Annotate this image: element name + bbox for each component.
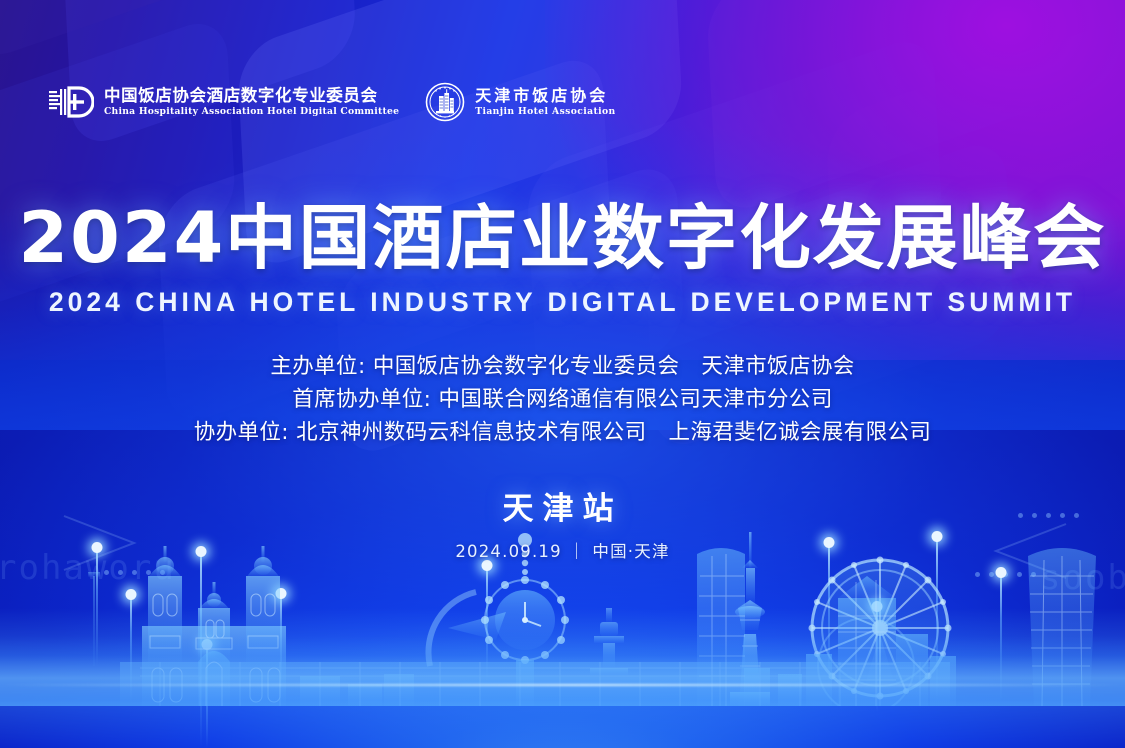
main-title-block: 2024中国酒店业数字化发展峰会 2024 CHINA HOTEL INDUST… xyxy=(0,203,1125,318)
organizers-block: 主办单位: 中国饭店协会数字化专业委员会 天津市饭店协会 首席协办单位: 中国联… xyxy=(0,350,1125,449)
horizon-line xyxy=(0,684,1125,686)
summit-title-en: 2024 CHINA HOTEL INDUSTRY DIGITAL DEVELO… xyxy=(0,287,1125,318)
station-block: 天津站 2024.09.19 ｜ 中国·天津 xyxy=(0,483,1125,562)
header-logo-bar: 中国饭店协会酒店数字化专业委员会 China Hospitality Assoc… xyxy=(48,82,616,122)
logo-tha-cn-text: 天津市饭店协会 xyxy=(475,88,615,104)
logo-china-hospitality-association[interactable]: 中国饭店协会酒店数字化专业委员会 China Hospitality Assoc… xyxy=(48,85,399,119)
station-name: 天津站 xyxy=(0,483,1125,528)
tianjin-hotel-association-seal-icon xyxy=(425,82,465,122)
logo-tianjin-hotel-association[interactable]: 天津市饭店协会 Tianjin Hotel Association xyxy=(425,82,615,122)
organizer-line-co-host: 协办单位: 北京神州数码云科信息技术有限公司 上海君斐亿诚会展有限公司 xyxy=(0,416,1125,449)
cha-digital-committee-logo-icon xyxy=(48,85,94,119)
organizer-line-host: 主办单位: 中国饭店协会数字化专业委员会 天津市饭店协会 xyxy=(0,350,1125,383)
summit-title-cn: 2024中国酒店业数字化发展峰会 xyxy=(0,203,1125,273)
organizer-line-chief-co-host: 首席协办单位: 中国联合网络通信有限公司天津市分公司 xyxy=(0,383,1125,416)
poster-canvas: rohaworu soobm xyxy=(0,0,1125,748)
logo-cha-en-text: China Hospitality Association Hotel Digi… xyxy=(104,107,399,116)
station-date: 2024.09.19 ｜ 中国·天津 xyxy=(0,538,1125,562)
logo-tha-en-text: Tianjin Hotel Association xyxy=(475,107,615,116)
horizon-glow xyxy=(0,608,1125,748)
logo-cha-cn-text: 中国饭店协会酒店数字化专业委员会 xyxy=(104,88,399,105)
